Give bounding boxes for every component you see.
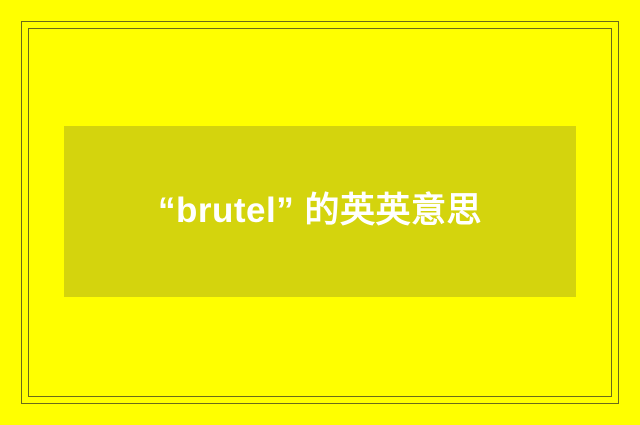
poster-canvas: “brutel” 的英英意思 <box>0 0 640 425</box>
title-card: “brutel” 的英英意思 <box>64 126 576 297</box>
page-title: “brutel” 的英英意思 <box>134 183 506 240</box>
